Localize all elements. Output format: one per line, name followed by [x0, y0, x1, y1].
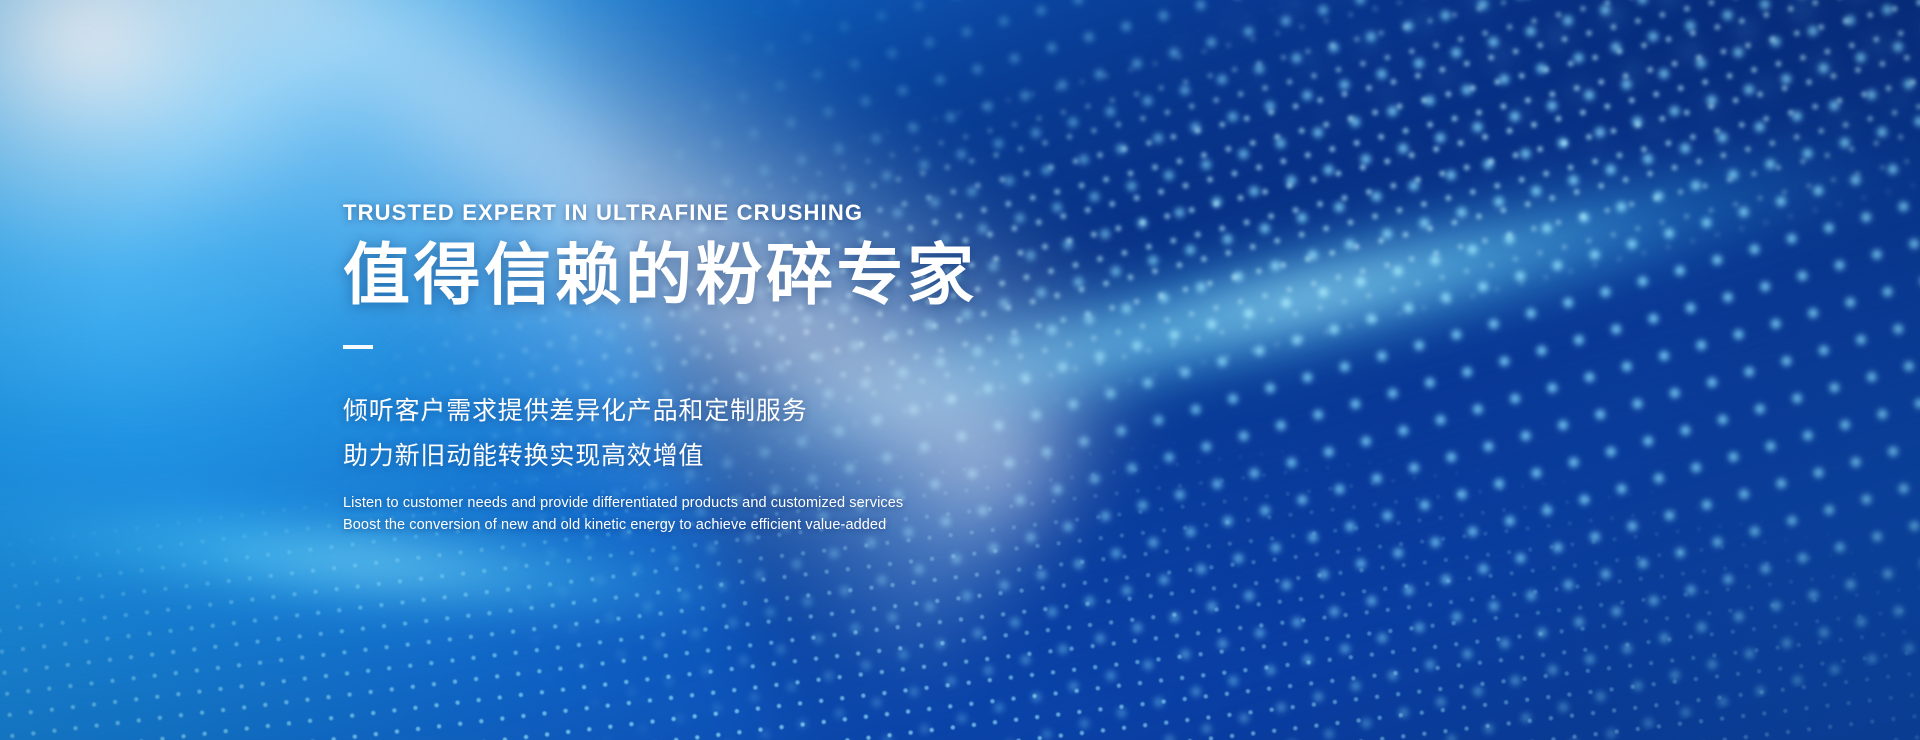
hero-eyebrow: TRUSTED EXPERT IN ULTRAFINE CRUSHING [343, 200, 1303, 226]
hero-subtitle-en-line-1: Listen to customer needs and provide dif… [343, 493, 1303, 514]
hero-banner: TRUSTED EXPERT IN ULTRAFINE CRUSHING 值得信… [0, 0, 1920, 740]
hero-headline: 值得信赖的粉碎专家 [343, 238, 1303, 314]
hero-subtitle-en-line-2: Boost the conversion of new and old kine… [343, 515, 1303, 536]
hero-subtitle-cn-line-2: 助力新旧动能转换实现高效增值 [343, 436, 1303, 477]
hero-content: TRUSTED EXPERT IN ULTRAFINE CRUSHING 值得信… [343, 200, 1303, 535]
hero-subtitle-cn-line-1: 倾听客户需求提供差异化产品和定制服务 [343, 391, 1303, 432]
hero-divider [343, 345, 373, 349]
